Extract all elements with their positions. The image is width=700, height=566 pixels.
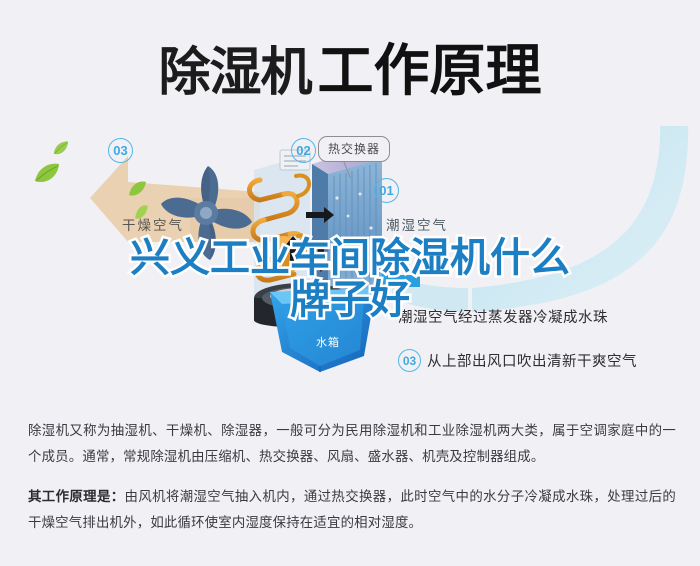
body-copy: 除湿机又称为抽湿机、干燥机、除湿器，一般可分为民用除湿机和工业除湿机两大类，属于… (28, 418, 676, 551)
list-item: 潮湿空气经过蒸发器冷凝成水珠 (398, 306, 698, 327)
water-tank-label: 水箱 (316, 334, 340, 350)
page-title: 除湿机工作原理 (0, 26, 700, 107)
leaf-icon (128, 180, 147, 197)
step-text: 潮湿空气经过蒸发器冷凝成水珠 (398, 306, 608, 327)
badge-02: 02 (291, 138, 316, 163)
paragraph-1: 除湿机又称为抽湿机、干燥机、除湿器，一般可分为民用除湿机和工业除湿机两大类，属于… (28, 418, 676, 470)
paragraph-2-rest: 由风机将潮湿空气抽入机内，通过热交换器，此时空气中的水分子冷凝成水珠，处理过后的… (28, 489, 676, 530)
leaf-icon (52, 140, 69, 157)
water-tank-icon (268, 286, 378, 374)
page-title-part1: 除湿机 (158, 43, 311, 103)
badge-03: 03 (398, 349, 421, 372)
infographic-page: 除湿机工作原理 (0, 0, 700, 566)
heat-exchanger-callout: 热交换器 (318, 136, 390, 162)
dry-air-label: 干燥空气 (122, 214, 184, 234)
badge-03: 03 (108, 138, 133, 163)
leaf-icon (34, 162, 60, 184)
list-item: 03 从上部出风口吹出清新干爽空气 (398, 349, 698, 372)
step-list: 潮湿空气经过蒸发器冷凝成水珠 03 从上部出风口吹出清新干爽空气 (398, 306, 698, 394)
paragraph-2-lead: 其工作原理是： (28, 489, 125, 504)
step-text: 从上部出风口吹出清新干爽空气 (427, 350, 637, 371)
paragraph-2: 其工作原理是：由风机将潮湿空气抽入机内，通过热交换器，此时空气中的水分子冷凝成水… (28, 484, 676, 536)
humid-air-label: 潮湿空气 (386, 214, 448, 234)
badge-01: 01 (374, 178, 399, 203)
page-title-part2: 工作原理 (318, 39, 542, 104)
